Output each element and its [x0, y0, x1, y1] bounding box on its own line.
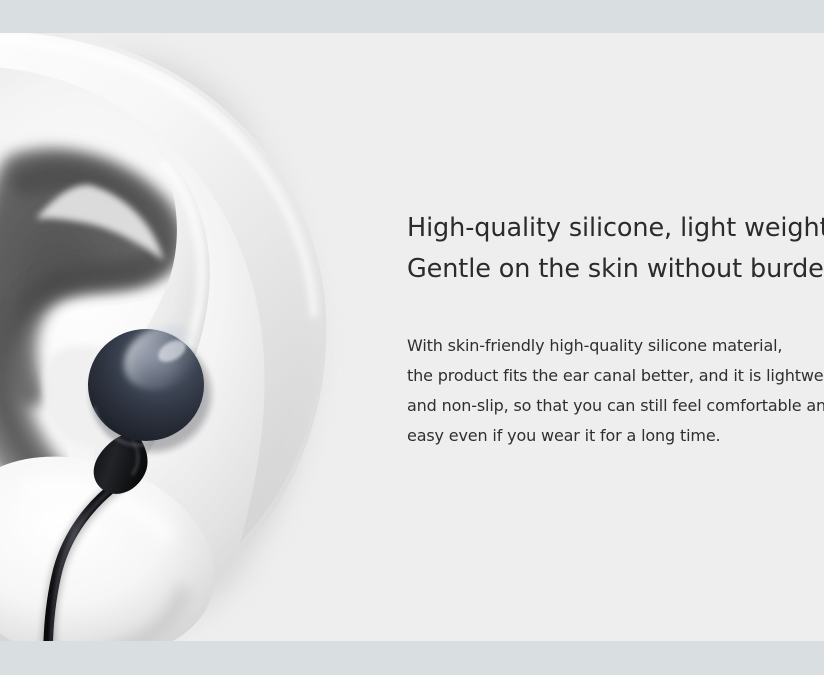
feature-copy-block: High-quality silicone, light weight Gent… [407, 208, 824, 451]
body-line-3: and non-slip, so that you can still feel… [407, 391, 824, 421]
product-feature-banner: High-quality silicone, light weight Gent… [0, 0, 824, 675]
top-page-band [0, 0, 824, 33]
body-line-1: With skin-friendly high-quality silicone… [407, 290, 824, 361]
ear-with-earphone-illustration [0, 33, 360, 641]
body-line-4: easy even if you wear it for a long time… [407, 421, 824, 451]
bottom-page-band [0, 641, 824, 675]
headline-line-1: High-quality silicone, light weight [407, 208, 824, 249]
headline-line-2: Gentle on the skin without burden [407, 249, 824, 290]
feature-stage: High-quality silicone, light weight Gent… [0, 33, 824, 641]
body-line-2: the product fits the ear canal better, a… [407, 361, 824, 391]
